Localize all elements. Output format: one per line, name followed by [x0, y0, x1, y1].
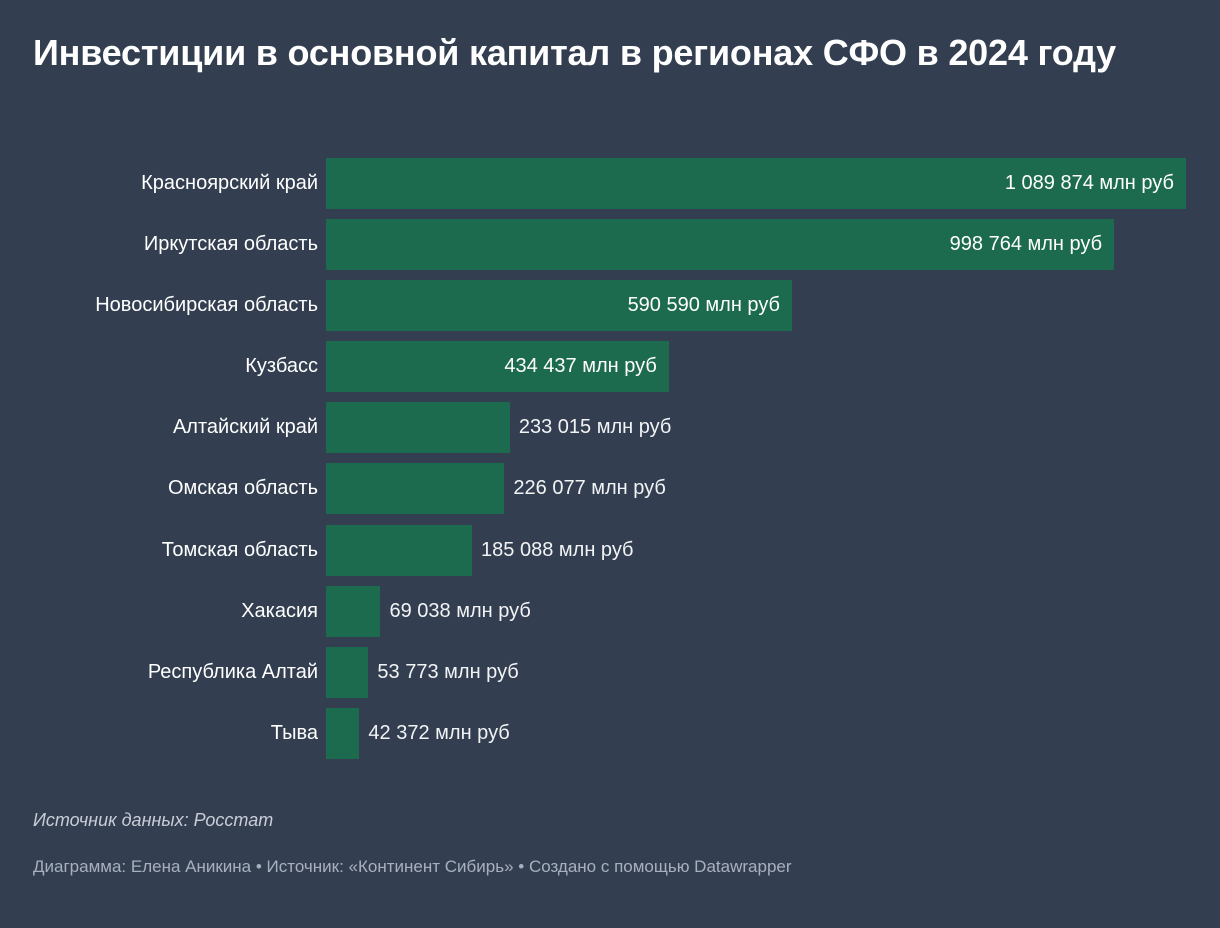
bar-track: 53 773 млн руб [326, 647, 1220, 698]
bar-track: 42 372 млн руб [326, 708, 1220, 759]
value-label: 1 089 874 млн руб [326, 158, 1174, 209]
bar[interactable] [326, 463, 504, 514]
bar[interactable] [326, 525, 472, 576]
value-label: 42 372 млн руб [368, 708, 509, 759]
bar-track: 69 038 млн руб [326, 586, 1220, 637]
category-label: Томская область [0, 525, 318, 576]
bar-track: 226 077 млн руб [326, 463, 1220, 514]
value-label: 233 015 млн руб [519, 402, 671, 453]
chart-title: Инвестиции в основной капитал в регионах… [33, 28, 1118, 78]
bar-row: Иркутская область998 764 млн руб [0, 219, 1220, 280]
bar-track: 233 015 млн руб [326, 402, 1220, 453]
value-label: 69 038 млн руб [389, 586, 530, 637]
bar-row: Красноярский край1 089 874 млн руб [0, 158, 1220, 219]
category-label: Хакасия [0, 586, 318, 637]
value-label: 998 764 млн руб [326, 219, 1102, 270]
category-label: Иркутская область [0, 219, 318, 270]
category-label: Тыва [0, 708, 318, 759]
value-label: 590 590 млн руб [326, 280, 780, 331]
chart-container: Инвестиции в основной капитал в регионах… [0, 0, 1220, 928]
bar-row: Хакасия69 038 млн руб [0, 586, 1220, 647]
value-label: 185 088 млн руб [481, 525, 633, 576]
bar-row: Новосибирская область590 590 млн руб [0, 280, 1220, 341]
bar[interactable] [326, 402, 510, 453]
bar-row: Томская область185 088 млн руб [0, 525, 1220, 586]
chart-credit: Диаграмма: Елена Аникина • Источник: «Ко… [33, 857, 792, 877]
value-label: 226 077 млн руб [513, 463, 665, 514]
source-note: Источник данных: Росстат [33, 810, 273, 831]
bar-plot-area: Красноярский край1 089 874 млн рубИркутс… [0, 158, 1220, 769]
bar-track: 998 764 млн руб [326, 219, 1220, 270]
bar-row: Кузбасс434 437 млн руб [0, 341, 1220, 402]
bar-row: Тыва42 372 млн руб [0, 708, 1220, 769]
category-label: Новосибирская область [0, 280, 318, 331]
value-label: 53 773 млн руб [377, 647, 518, 698]
bar-track: 434 437 млн руб [326, 341, 1220, 392]
bar-row: Алтайский край233 015 млн руб [0, 402, 1220, 463]
category-label: Красноярский край [0, 158, 318, 209]
bar[interactable] [326, 586, 380, 637]
category-label: Республика Алтай [0, 647, 318, 698]
bar[interactable] [326, 647, 368, 698]
category-label: Омская область [0, 463, 318, 514]
bar-row: Республика Алтай53 773 млн руб [0, 647, 1220, 708]
bar-track: 1 089 874 млн руб [326, 158, 1220, 209]
bar-track: 185 088 млн руб [326, 525, 1220, 576]
bar-row: Омская область226 077 млн руб [0, 463, 1220, 524]
bar[interactable] [326, 708, 359, 759]
bar-track: 590 590 млн руб [326, 280, 1220, 331]
value-label: 434 437 млн руб [326, 341, 657, 392]
category-label: Алтайский край [0, 402, 318, 453]
category-label: Кузбасс [0, 341, 318, 392]
